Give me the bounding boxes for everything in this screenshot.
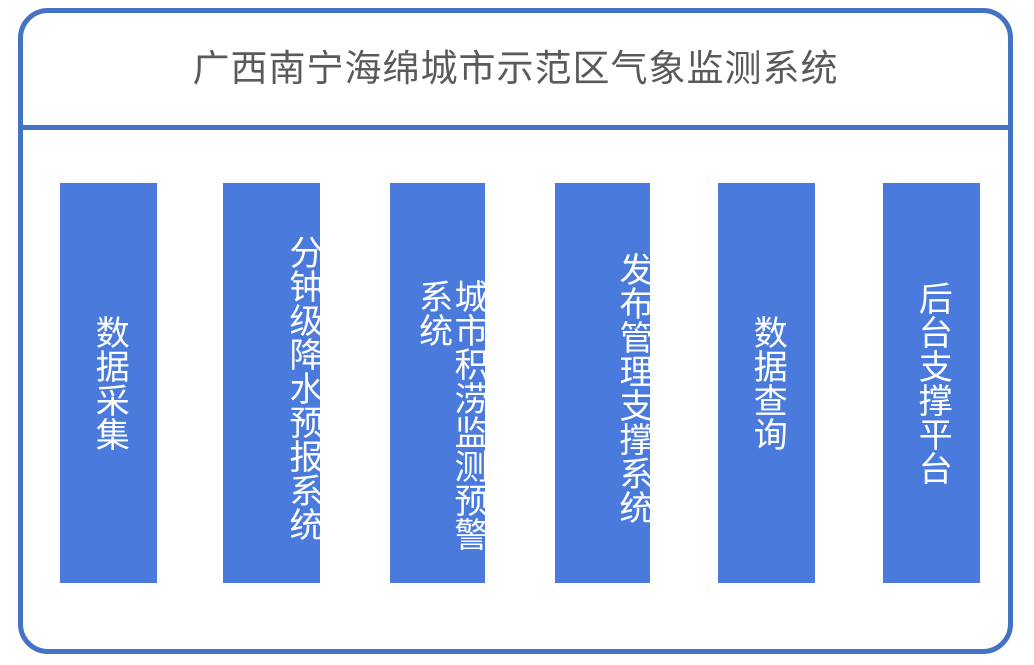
pillar-data-collection[interactable]: 数据采集 bbox=[60, 183, 157, 583]
pillar-urban-waterlogging[interactable]: 城市积涝监测预警系统 bbox=[390, 183, 485, 583]
pillar-release-management[interactable]: 发布管理支撑系统 bbox=[555, 183, 650, 583]
page-title: 广西南宁海绵城市示范区气象监测系统 bbox=[193, 49, 839, 90]
diagram-header-band: 广西南宁海绵城市示范区气象监测系统 bbox=[23, 13, 1008, 130]
pillar-label-data-collection: 数据采集 bbox=[60, 183, 157, 583]
pillar-label-data-query: 数据查询 bbox=[718, 183, 815, 583]
pillar-label-urban-waterlogging: 城市积涝监测预警系统 bbox=[390, 183, 485, 583]
pillar-label-release-management: 发布管理支撑系统 bbox=[555, 183, 650, 583]
pillar-label-backend-platform: 后台支撑平台 bbox=[883, 183, 980, 583]
architecture-diagram: 广西南宁海绵城市示范区气象监测系统 数据采集 分钟级降水预报系统 城市积涝监测预… bbox=[0, 0, 1034, 665]
pillar-minute-precip-forecast[interactable]: 分钟级降水预报系统 bbox=[223, 183, 320, 583]
pillars-container: 数据采集 分钟级降水预报系统 城市积涝监测预警系统 发布管理支撑系统 数据查询 … bbox=[23, 135, 1008, 649]
pillar-backend-platform[interactable]: 后台支撑平台 bbox=[883, 183, 980, 583]
pillar-data-query[interactable]: 数据查询 bbox=[718, 183, 815, 583]
pillar-label-minute-precip-forecast: 分钟级降水预报系统 bbox=[223, 183, 320, 583]
diagram-outer-frame: 广西南宁海绵城市示范区气象监测系统 数据采集 分钟级降水预报系统 城市积涝监测预… bbox=[18, 8, 1013, 654]
